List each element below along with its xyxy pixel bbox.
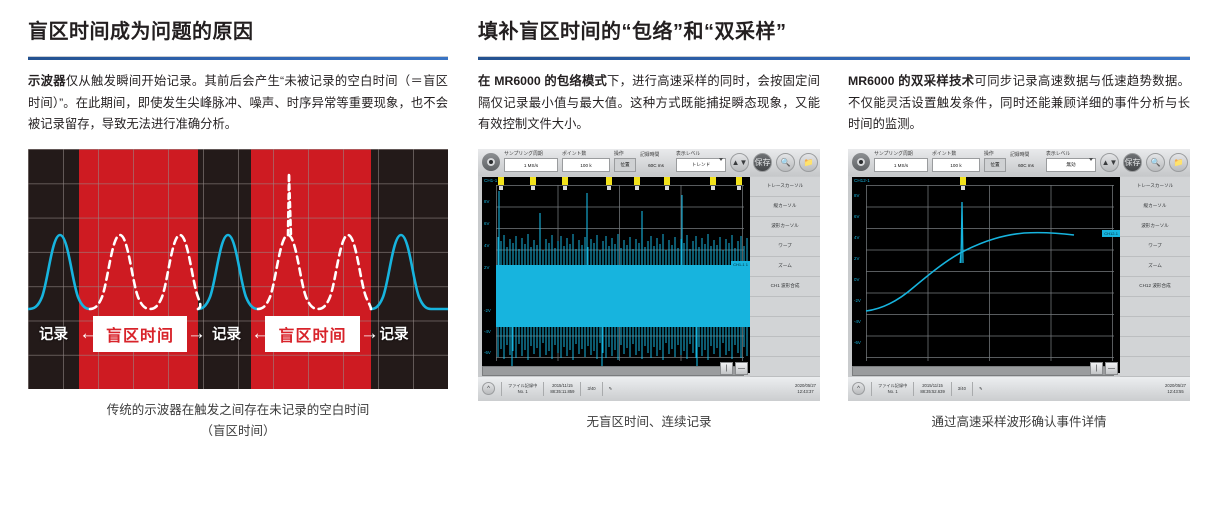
side-button-empty[interactable]: .: [1120, 357, 1190, 377]
status-file-value: No. 1: [518, 389, 528, 395]
field-display-level[interactable]: 表示レベル トレンド: [676, 152, 726, 172]
left-paragraph: 示波器仅从触发瞬间开始记录。其前后会产生“未被记录的空白时间（＝盲区时间）”。在…: [28, 71, 448, 136]
status-clock-time: 12:43:55: [1167, 389, 1183, 395]
field-record-time: 記録時間 60C ms: [1010, 153, 1042, 171]
cursor-tag-envelope[interactable]: CH1-1 1: [731, 261, 750, 268]
right-paragraph-row: 在 MR6000 的包络模式下，进行高速采样的同时，会按固定间隔仅记录最小值与最…: [478, 60, 1190, 136]
side-button[interactable]: CH1 波形合成: [750, 277, 820, 297]
gear-icon[interactable]: [852, 153, 870, 171]
label-blind-2: 盲区时间: [278, 322, 346, 346]
side-button[interactable]: 縦カーソル: [750, 197, 820, 217]
left-paragraph-rest: 仅从触发瞬间开始记录。其前后会产生“未被记录的空白时间（＝盲区时间）”。在此期间…: [28, 74, 448, 131]
label-blind-box-1: 盲区时间: [93, 316, 187, 352]
left-caption: 传统的示波器在触发之间存在未记录的空白时间 （盲区时间）: [28, 400, 448, 442]
field-points[interactable]: ポイント数 100 k: [562, 152, 610, 172]
envelope-waveform: [482, 177, 750, 373]
scope-dualsample-statusbar: ^ ファイル記録中 No. 1 2015/11/15 88:35:52.639 …: [848, 377, 1190, 401]
side-button[interactable]: 波形カーソル: [1120, 217, 1190, 237]
field-sampling-rate-value[interactable]: 1 MS/s: [874, 158, 928, 172]
scope-dualsample-toolbar: サンプリング周期 1 MS/s ポイント数 100 k 操作 位置 記録時間 6…: [848, 149, 1190, 176]
search-icon[interactable]: 🔍: [776, 153, 795, 172]
field-operation-value[interactable]: 位置: [614, 158, 636, 172]
right-paragraph-1-lead: 在 MR6000 的包络模式: [478, 74, 607, 88]
save-button[interactable]: 保存: [1123, 153, 1142, 172]
status-separator: [602, 382, 603, 396]
divider-blue-line: [28, 57, 448, 60]
zoom-out-button[interactable]: —: [1105, 362, 1118, 375]
scope-envelope-side-panel: トレースカーソル 縦カーソル 波形カーソル ワープ ズーム CH1 波形合成 .…: [750, 177, 820, 377]
scope-envelope: サンプリング周期 1 MS/s ポイント数 100 k 操作 位置 記録時間 6…: [478, 149, 820, 401]
scope-dualsample-plot[interactable]: CH12-1 8V 6V 4V 2V 0V -2V -4V -6V: [852, 177, 1120, 373]
field-record-time-value: 60C ms: [1010, 159, 1042, 171]
scope-dualsample: サンプリング周期 1 MS/s ポイント数 100 k 操作 位置 記録時間 6…: [848, 149, 1190, 401]
field-sampling-rate[interactable]: サンプリング周期 1 MS/s: [504, 152, 558, 172]
status-clock-time: 12:43:37: [797, 389, 813, 395]
arrow-left-icon-1: ←: [79, 324, 93, 343]
arrow-right-icon-1: →: [187, 324, 202, 343]
field-operation-value[interactable]: 位置: [984, 158, 1006, 172]
status-separator: [951, 382, 952, 396]
diagram-label-row: 记录 ← 盲区时间 → 记录 ← 盲区时间 → 记录: [28, 316, 448, 352]
status-mode: 3/40: [587, 386, 595, 392]
status-mode-value: 3/40: [587, 386, 595, 392]
side-button-empty[interactable]: .: [750, 297, 820, 317]
side-button[interactable]: ワープ: [1120, 237, 1190, 257]
field-display-level[interactable]: 表示レベル 無効: [1046, 152, 1096, 172]
zoom-in-button[interactable]: |: [1090, 362, 1103, 375]
side-button-empty[interactable]: .: [1120, 297, 1190, 317]
field-record-time: 記録時間 60C ms: [640, 153, 672, 171]
status-separator: [913, 382, 914, 396]
field-operation[interactable]: 操作 位置: [614, 152, 636, 172]
side-button[interactable]: トレースカーソル: [1120, 177, 1190, 197]
field-operation[interactable]: 操作 位置: [984, 152, 1006, 172]
field-display-level-value[interactable]: 無効: [1046, 158, 1096, 172]
field-points[interactable]: ポイント数 100 k: [932, 152, 980, 172]
field-points-value[interactable]: 100 k: [932, 158, 980, 172]
folder-icon[interactable]: 📁: [1169, 153, 1188, 172]
scope-dualsample-zoom-buttons: | —: [1090, 362, 1118, 375]
scope-envelope-statusbar: ^ ファイル記録中 No. 1 2015/11/15 88:35:11.859 …: [478, 377, 820, 401]
scope-envelope-scrollbar[interactable]: [482, 366, 744, 376]
pen-icon[interactable]: ✎: [979, 386, 983, 392]
side-button[interactable]: 波形カーソル: [750, 217, 820, 237]
scope-row: サンプリング周期 1 MS/s ポイント数 100 k 操作 位置 記録時間 6…: [478, 149, 1190, 401]
zoom-out-button[interactable]: —: [735, 362, 748, 375]
zoom-in-button[interactable]: |: [720, 362, 733, 375]
label-record-3: 记录: [374, 323, 414, 344]
side-button-empty[interactable]: .: [1120, 317, 1190, 337]
field-display-level-label: 表示レベル: [1046, 151, 1114, 158]
caption-dualsample: 通过高速采样波形确认事件详情: [848, 412, 1190, 433]
side-button[interactable]: トレースカーソル: [750, 177, 820, 197]
field-points-value[interactable]: 100 k: [562, 158, 610, 172]
side-button[interactable]: 縦カーソル: [1120, 197, 1190, 217]
scope-envelope-toolbar: サンプリング周期 1 MS/s ポイント数 100 k 操作 位置 記録時間 6…: [478, 149, 820, 176]
search-icon[interactable]: 🔍: [1146, 153, 1165, 172]
pen-icon[interactable]: ✎: [609, 386, 613, 392]
status-file: ファイル記録中 No. 1: [508, 383, 537, 395]
arrow-left-icon-2: ←: [251, 324, 265, 343]
collapse-icon[interactable]: ^: [482, 382, 495, 395]
status-mode-value: 3/40: [958, 386, 966, 392]
cursor-tag-dualsample[interactable]: CH12-1: [1102, 230, 1120, 237]
blind-time-diagram: 记录 ← 盲区时间 → 记录 ← 盲区时间 → 记录: [28, 149, 448, 389]
status-clock: 2020/05/27 12:43:55: [1165, 383, 1186, 395]
right-paragraph-2-lead: MR6000 的双采样技术: [848, 74, 975, 88]
status-date: 2015/11/15 88:35:11.859: [550, 383, 574, 395]
status-date-value: 88:35:52.639: [920, 389, 944, 395]
field-sampling-rate[interactable]: サンプリング周期 1 MS/s: [874, 152, 928, 172]
right-heading: 填补盲区时间的“包络”和“双采样”: [478, 0, 1190, 46]
status-file: ファイル記録中 No. 1: [878, 383, 907, 395]
label-blind-1: 盲区时间: [106, 322, 174, 346]
save-button[interactable]: 保存: [753, 153, 772, 172]
label-record-1: 记录: [28, 323, 79, 344]
side-button[interactable]: CH12 波形合成: [1120, 277, 1190, 297]
side-button-empty[interactable]: .: [750, 357, 820, 377]
left-caption-line1: 传统的示波器在触发之间存在未记录的空白时间: [28, 400, 448, 421]
field-sampling-rate-value[interactable]: 1 MS/s: [504, 158, 558, 172]
field-display-level-value[interactable]: トレンド: [676, 158, 726, 172]
side-button-empty[interactable]: .: [750, 317, 820, 337]
caption-envelope: 无盲区时间、连续记录: [478, 412, 820, 433]
left-heading: 盲区时间成为问题的原因: [28, 0, 448, 46]
side-button[interactable]: ワープ: [750, 237, 820, 257]
status-clock: 2020/05/27 12:43:37: [795, 383, 816, 395]
side-button[interactable]: ズーム: [750, 257, 820, 277]
field-record-time-value: 60C ms: [640, 159, 672, 171]
collapse-icon[interactable]: ^: [852, 382, 865, 395]
left-column: 盲区时间成为问题的原因 示波器仅从触发瞬间开始记录。其前后会产生“未被记录的空白…: [28, 0, 448, 442]
status-date: 2015/11/15 88:35:52.639: [920, 383, 944, 395]
status-separator: [580, 382, 581, 396]
scope-envelope-plot[interactable]: CH1-1 8V 6V 4V 2V -2V -4V -6V: [482, 177, 750, 373]
status-separator: [972, 382, 973, 396]
side-button[interactable]: ズーム: [1120, 257, 1190, 277]
gear-icon[interactable]: [482, 153, 500, 171]
status-file-value: No. 1: [888, 389, 898, 395]
arrow-right-icon-2: →: [360, 324, 374, 343]
scope-dualsample-scrollbar[interactable]: [852, 366, 1114, 376]
folder-icon[interactable]: 📁: [799, 153, 818, 172]
scope-envelope-zoom-buttons: | —: [720, 362, 748, 375]
right-paragraph-1: 在 MR6000 的包络模式下，进行高速采样的同时，会按固定间隔仅记录最小值与最…: [478, 71, 820, 136]
left-paragraph-lead: 示波器: [28, 74, 66, 88]
status-separator: [501, 382, 502, 396]
field-display-level-label: 表示レベル: [676, 151, 744, 158]
diagram-waveform: [28, 149, 448, 389]
status-date-value: 88:35:11.859: [550, 389, 574, 395]
side-button-empty[interactable]: .: [1120, 337, 1190, 357]
scope-dualsample-side-panel: トレースカーソル 縦カーソル 波形カーソル ワープ ズーム CH12 波形合成 …: [1120, 177, 1190, 377]
label-blind-box-2: 盲区时间: [265, 316, 360, 352]
left-divider: [28, 56, 448, 60]
dualsample-waveform: [852, 177, 1120, 373]
status-mode: 3/40: [958, 386, 966, 392]
right-paragraph-2: MR6000 的双采样技术可同步记录高速数据与低速趋势数据。不仅能灵活设置触发条…: [848, 71, 1190, 136]
status-separator: [543, 382, 544, 396]
side-button-empty[interactable]: .: [750, 337, 820, 357]
label-record-2: 记录: [202, 323, 251, 344]
status-separator: [871, 382, 872, 396]
left-caption-line2: （盲区时间）: [28, 421, 448, 442]
right-caption-row: 无盲区时间、连续记录 通过高速采样波形确认事件详情: [478, 401, 1190, 433]
right-column: 填补盲区时间的“包络”和“双采样” 在 MR6000 的包络模式下，进行高速采样…: [478, 0, 1190, 433]
page-root: 盲区时间成为问题的原因 示波器仅从触发瞬间开始记录。其前后会产生“未被记录的空白…: [0, 0, 1209, 510]
